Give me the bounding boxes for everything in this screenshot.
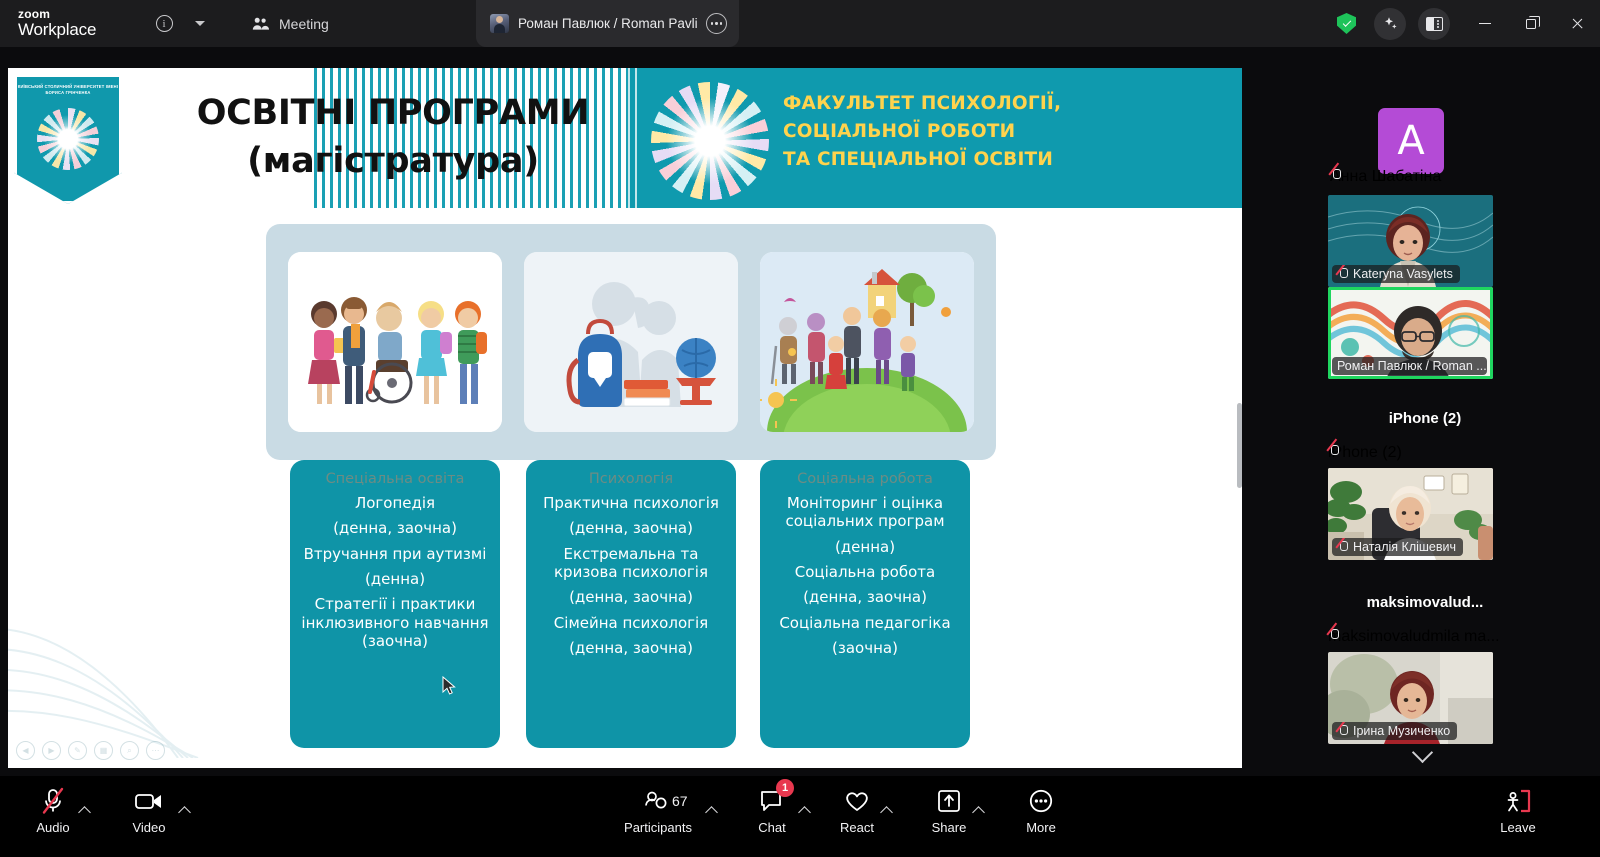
info-icon[interactable]: i (150, 10, 178, 38)
program-line: Втручання при аутизмі (300, 545, 490, 563)
presentation-controls[interactable]: ◀ ▶ ✎ ▦ ⌕ ⋯ (16, 741, 165, 760)
slide-title-line2: (магістратура) (158, 138, 628, 186)
window-controls (1337, 0, 1600, 47)
program-line: Стратегії і практики інклюзивного навчан… (300, 595, 490, 650)
participant-label: maksimovaludmila ma... (1328, 628, 1500, 645)
shared-screen-tab[interactable]: Роман Павлюк / Roman Pavliuk's (476, 0, 739, 47)
program-line: Практична психологія (536, 494, 726, 512)
video-label: Video (132, 820, 165, 835)
participant-name-maksimova: maksimovaludmila ma... (1328, 628, 1500, 646)
faculty-line-2: СОЦІАЛЬНОЇ РОБОТИ (783, 118, 1061, 146)
program-card-social-work: Соціальна робота Моніторинг і оцінка соц… (760, 460, 970, 748)
program-line: (заочна) (770, 639, 960, 657)
avatar-letter: A (1397, 118, 1424, 164)
chat-bubble-icon: 1 (760, 784, 784, 818)
avatar (490, 14, 509, 33)
more-button[interactable]: More (1002, 784, 1080, 848)
participants-label: Participants (624, 820, 692, 835)
crest-star-emblem (37, 108, 99, 170)
program-line: (денна, заочна) (770, 588, 960, 606)
audio-label: Audio (36, 820, 69, 835)
program-card-heading: Психологія (536, 470, 726, 488)
more-icon[interactable]: ⋯ (146, 741, 165, 760)
close-button[interactable] (1554, 0, 1600, 47)
university-crest: КИЇВСЬКИЙ СТОЛИЧНИЙ УНІВЕРСИТЕТ ІМЕНІ БО… (14, 74, 122, 204)
slide-title: ОСВІТНІ ПРОГРАМИ (магістратура) (158, 90, 628, 185)
side-panel-icon[interactable] (1418, 8, 1450, 40)
share-tab-label: Роман Павлюк / Roman Pavliuk's (518, 16, 697, 31)
leave-button[interactable]: Leave (1479, 784, 1557, 848)
slide-image-panel (266, 224, 996, 460)
faculty-title: ФАКУЛЬТЕТ ПСИХОЛОГІЇ, СОЦІАЛЬНОЇ РОБОТИ … (783, 90, 1061, 174)
program-card-heading: Спеціальна освіта (300, 470, 490, 488)
program-card-special-education: Спеціальна освіта Логопедія (денна, заоч… (290, 460, 500, 748)
participant-tile-roman[interactable]: Роман Павлюк / Roman ... (1328, 287, 1493, 379)
faculty-line-3: ТА СПЕЦІАЛЬНОЇ ОСВІТИ (783, 146, 1061, 174)
more-label: More (1026, 820, 1056, 835)
react-label: React (840, 820, 874, 835)
slide-image-inclusive-students (288, 252, 502, 432)
program-line: Соціальна педагогіка (770, 614, 960, 632)
program-line: (денна) (770, 538, 960, 556)
grid-view-icon[interactable]: ▦ (94, 741, 113, 760)
more-dots-icon (1029, 784, 1053, 818)
program-line: Сімейна психологія (536, 614, 726, 632)
faculty-line-1: ФАКУЛЬТЕТ ПСИХОЛОГІЇ, (783, 90, 1061, 118)
mic-muted-icon (1337, 268, 1348, 281)
shield-check-icon[interactable] (1337, 13, 1356, 34)
program-card-psychology: Психологія Практична психологія (денна, … (526, 460, 736, 748)
chevron-down-icon[interactable] (186, 10, 214, 38)
camera-icon (135, 784, 163, 818)
zoom-brand-line1: zoom (18, 8, 110, 21)
heart-icon (844, 784, 870, 818)
program-line: (денна, заочна) (536, 639, 726, 657)
program-line: Моніторинг і оцінка соціальних програм (770, 494, 960, 531)
slide-image-psychology (524, 252, 738, 432)
zoom-meeting-window: zoom Workplace i Meeting Роман Павлюк / … (0, 0, 1600, 857)
participants-count: 67 (672, 793, 688, 809)
group-header-iphone: iPhone (2) (1250, 410, 1600, 427)
participant-name-roman: Роман Павлюк / Roman ... (1332, 357, 1487, 375)
share-options-caret[interactable] (972, 804, 985, 817)
leave-door-icon (1504, 784, 1532, 818)
react-options-caret[interactable] (880, 804, 893, 817)
title-bar: zoom Workplace i Meeting Роман Павлюк / … (0, 0, 1600, 47)
share-label: Share (932, 820, 967, 835)
chat-options-caret[interactable] (798, 804, 811, 817)
program-line: Екстремальна та кризова психологія (536, 545, 726, 582)
program-line: (денна, заочна) (300, 519, 490, 537)
participant-name-nataliia: Наталія Клішевич (1332, 538, 1463, 556)
program-line: Логопедія (300, 494, 490, 512)
chat-unread-badge: 1 (776, 779, 794, 797)
participant-label: Kateryna Vasylets (1353, 267, 1453, 281)
participant-tile-nataliia[interactable]: Наталія Клішевич (1328, 468, 1493, 560)
participant-label: Наталія Клішевич (1353, 540, 1456, 554)
stage-scrollbar[interactable] (1237, 403, 1242, 488)
participant-label: Роман Павлюк / Roman ... (1337, 359, 1487, 373)
zoom-brand-line2: Workplace (18, 21, 110, 39)
shared-screen-stage[interactable]: ФАКУЛЬТЕТ ПСИХОЛОГІЇ, СОЦІАЛЬНОЇ РОБОТИ … (8, 68, 1242, 768)
meeting-tab[interactable]: Meeting (240, 9, 341, 39)
zoom-icon[interactable]: ⌕ (120, 741, 139, 760)
meeting-tab-label: Meeting (279, 16, 329, 32)
slide-header: ФАКУЛЬТЕТ ПСИХОЛОГІЇ, СОЦІАЛЬНОЇ РОБОТИ … (8, 68, 1242, 208)
chevron-down-icon[interactable] (1415, 745, 1435, 756)
meeting-toolbar: Audio Video Participants (0, 776, 1600, 857)
leave-label: Leave (1500, 820, 1535, 835)
zoom-logo: zoom Workplace (18, 8, 110, 38)
avatar: A (1378, 108, 1444, 174)
program-line: (денна, заочна) (536, 588, 726, 606)
participants-group-icon (252, 17, 270, 31)
audio-options-caret[interactable] (78, 804, 91, 817)
ai-sparkle-icon[interactable] (1374, 8, 1406, 40)
decorative-swirl (8, 458, 278, 758)
participant-name-anna: Анна Шабатіна (1330, 168, 1441, 186)
prev-slide-icon[interactable]: ◀ (16, 741, 35, 760)
participant-name-iryna: Ірина Музиченко (1332, 722, 1457, 740)
participant-tile-iryna[interactable]: Ірина Музиченко (1328, 652, 1493, 744)
mouse-cursor (442, 676, 456, 696)
mic-muted-icon (1337, 541, 1348, 554)
participant-rail[interactable]: A Анна Шабатіна (1250, 58, 1600, 776)
more-options-icon[interactable] (706, 13, 727, 34)
share-screen-icon (938, 784, 960, 818)
participants-options-caret[interactable] (705, 804, 718, 817)
minimize-button[interactable] (1462, 0, 1508, 47)
program-line: Соціальна робота (770, 563, 960, 581)
program-card-heading: Соціальна робота (770, 470, 960, 488)
participant-tile-kateryna[interactable]: Kateryna Vasylets (1328, 195, 1493, 287)
video-button[interactable]: Video (110, 784, 188, 848)
participants-icon (645, 784, 671, 818)
slide-title-line1: ОСВІТНІ ПРОГРАМИ (158, 90, 628, 138)
slide-image-social-work (760, 252, 974, 432)
faculty-logo (651, 82, 769, 200)
participant-label: iPhone (2) (1328, 444, 1402, 461)
program-line: (денна) (300, 570, 490, 588)
mic-muted-icon (1337, 725, 1348, 738)
pen-icon[interactable]: ✎ (68, 741, 87, 760)
university-crest-text: КИЇВСЬКИЙ СТОЛИЧНИЙ УНІВЕРСИТЕТ ІМЕНІ БО… (17, 84, 119, 96)
participant-label: Анна Шабатіна (1330, 168, 1441, 185)
video-options-caret[interactable] (178, 804, 191, 817)
maximize-button[interactable] (1508, 0, 1554, 47)
participant-name-iphone: iPhone (2) (1328, 444, 1402, 462)
program-line: (денна, заочна) (536, 519, 726, 537)
group-header-maksimova: maksimovalud... (1250, 594, 1600, 611)
microphone-muted-icon (41, 784, 65, 818)
next-slide-icon[interactable]: ▶ (42, 741, 61, 760)
participant-name-kateryna: Kateryna Vasylets (1332, 265, 1460, 283)
chat-label: Chat (758, 820, 785, 835)
header-teal-band: ФАКУЛЬТЕТ ПСИХОЛОГІЇ, СОЦІАЛЬНОЇ РОБОТИ … (628, 68, 1242, 208)
participant-label: Ірина Музиченко (1353, 724, 1450, 738)
